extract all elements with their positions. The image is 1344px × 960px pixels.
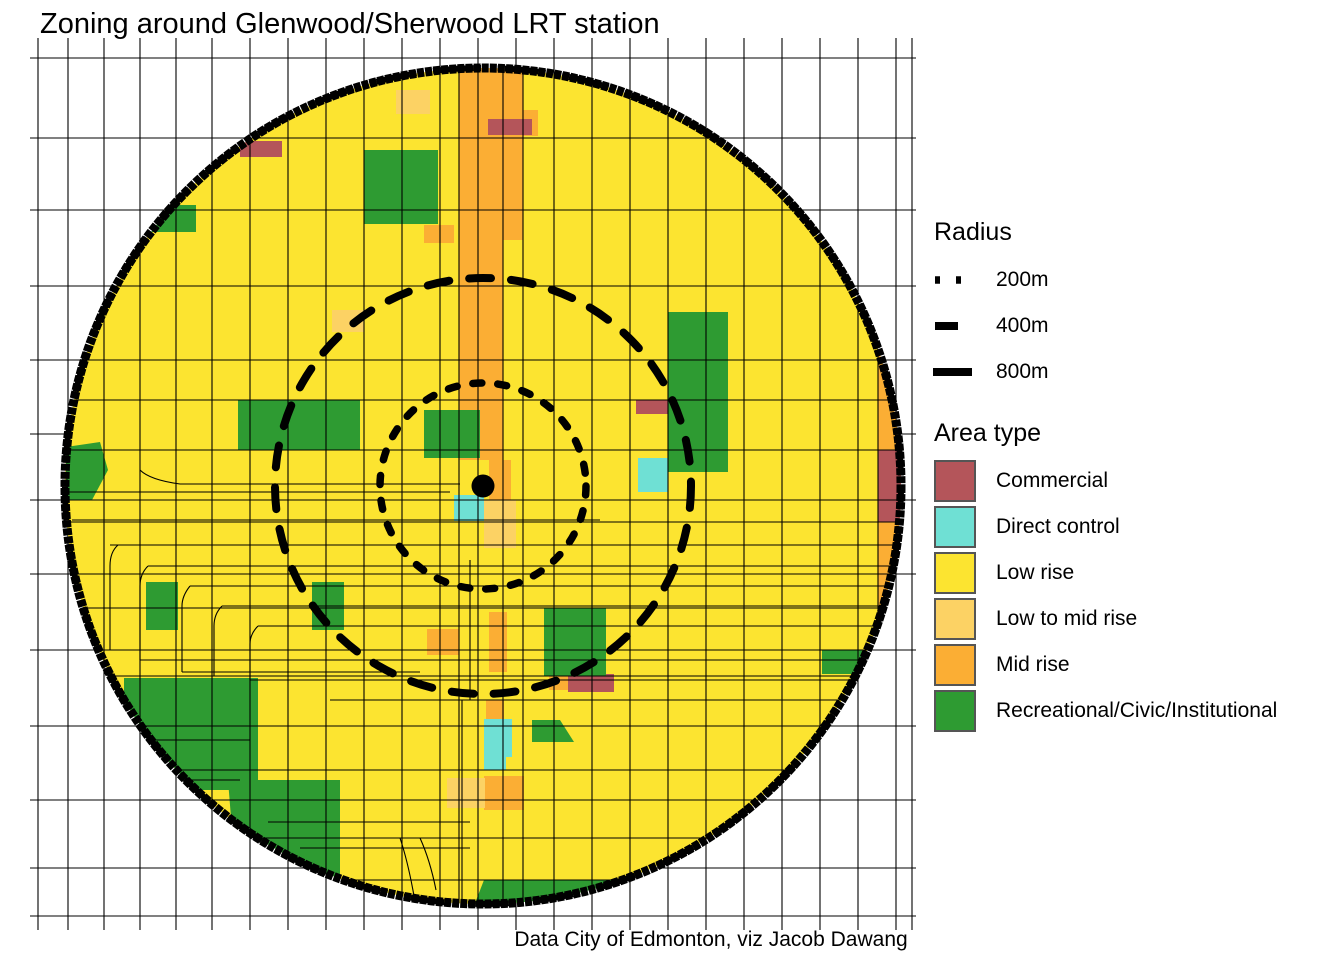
source-caption-text: Data City of Edmonton, viz Jacob Dawang <box>514 928 907 952</box>
legend-item-low-to-mid-rise[interactable]: Low to mid rise <box>930 596 1340 642</box>
legend-item-direct-control[interactable]: Direct control <box>930 504 1340 550</box>
legend-item-label: Low rise <box>996 561 1074 585</box>
station-dot-icon <box>472 475 495 498</box>
legend-item-label: 200m <box>996 268 1049 292</box>
legend-area-type-title: Area type <box>934 419 1340 448</box>
legend-item-label: Mid rise <box>996 653 1070 677</box>
legend-area-type-block: Area type Commercial Direct control Low … <box>930 419 1340 734</box>
legend-radius-title: Radius <box>934 218 1340 247</box>
legend-item-low-rise[interactable]: Low rise <box>930 550 1340 596</box>
legend-item-label: 400m <box>996 314 1049 338</box>
color-swatch <box>930 688 980 734</box>
legend-item-recreational[interactable]: Recreational/Civic/Institutional <box>930 688 1340 734</box>
legend-radius-block: Radius 200m 400m 800m <box>930 218 1340 395</box>
swatch-recreational <box>934 690 976 732</box>
color-swatch <box>930 550 980 596</box>
color-swatch <box>930 504 980 550</box>
swatch-mid-rise <box>934 644 976 686</box>
legend-item-800m[interactable]: 800m <box>930 349 1340 395</box>
swatch-low-to-mid-rise <box>934 598 976 640</box>
swatch-low-rise <box>934 552 976 594</box>
legend-item-mid-rise[interactable]: Mid rise <box>930 642 1340 688</box>
solid-line-icon <box>930 349 980 395</box>
source-caption: Data City of Edmonton, viz Jacob Dawang <box>0 928 1344 952</box>
legend-item-200m[interactable]: 200m <box>930 257 1340 303</box>
legend-item-label: Commercial <box>996 469 1108 493</box>
swatch-direct-control <box>934 506 976 548</box>
legend-item-400m[interactable]: 400m <box>930 303 1340 349</box>
swatch-commercial <box>934 460 976 502</box>
color-swatch <box>930 642 980 688</box>
legend-item-commercial[interactable]: Commercial <box>930 458 1340 504</box>
page-title: Zoning around Glenwood/Sherwood LRT stat… <box>40 8 660 41</box>
legend-item-label: Recreational/Civic/Institutional <box>996 699 1277 723</box>
dashed-line-icon <box>930 303 980 349</box>
legend-panel: Radius 200m 400m 800m <box>930 218 1340 734</box>
legend-item-label: 800m <box>996 360 1049 384</box>
color-swatch <box>930 596 980 642</box>
legend-item-label: Low to mid rise <box>996 607 1137 631</box>
color-swatch <box>930 458 980 504</box>
dotted-line-icon <box>930 257 980 303</box>
legend-item-label: Direct control <box>996 515 1120 539</box>
